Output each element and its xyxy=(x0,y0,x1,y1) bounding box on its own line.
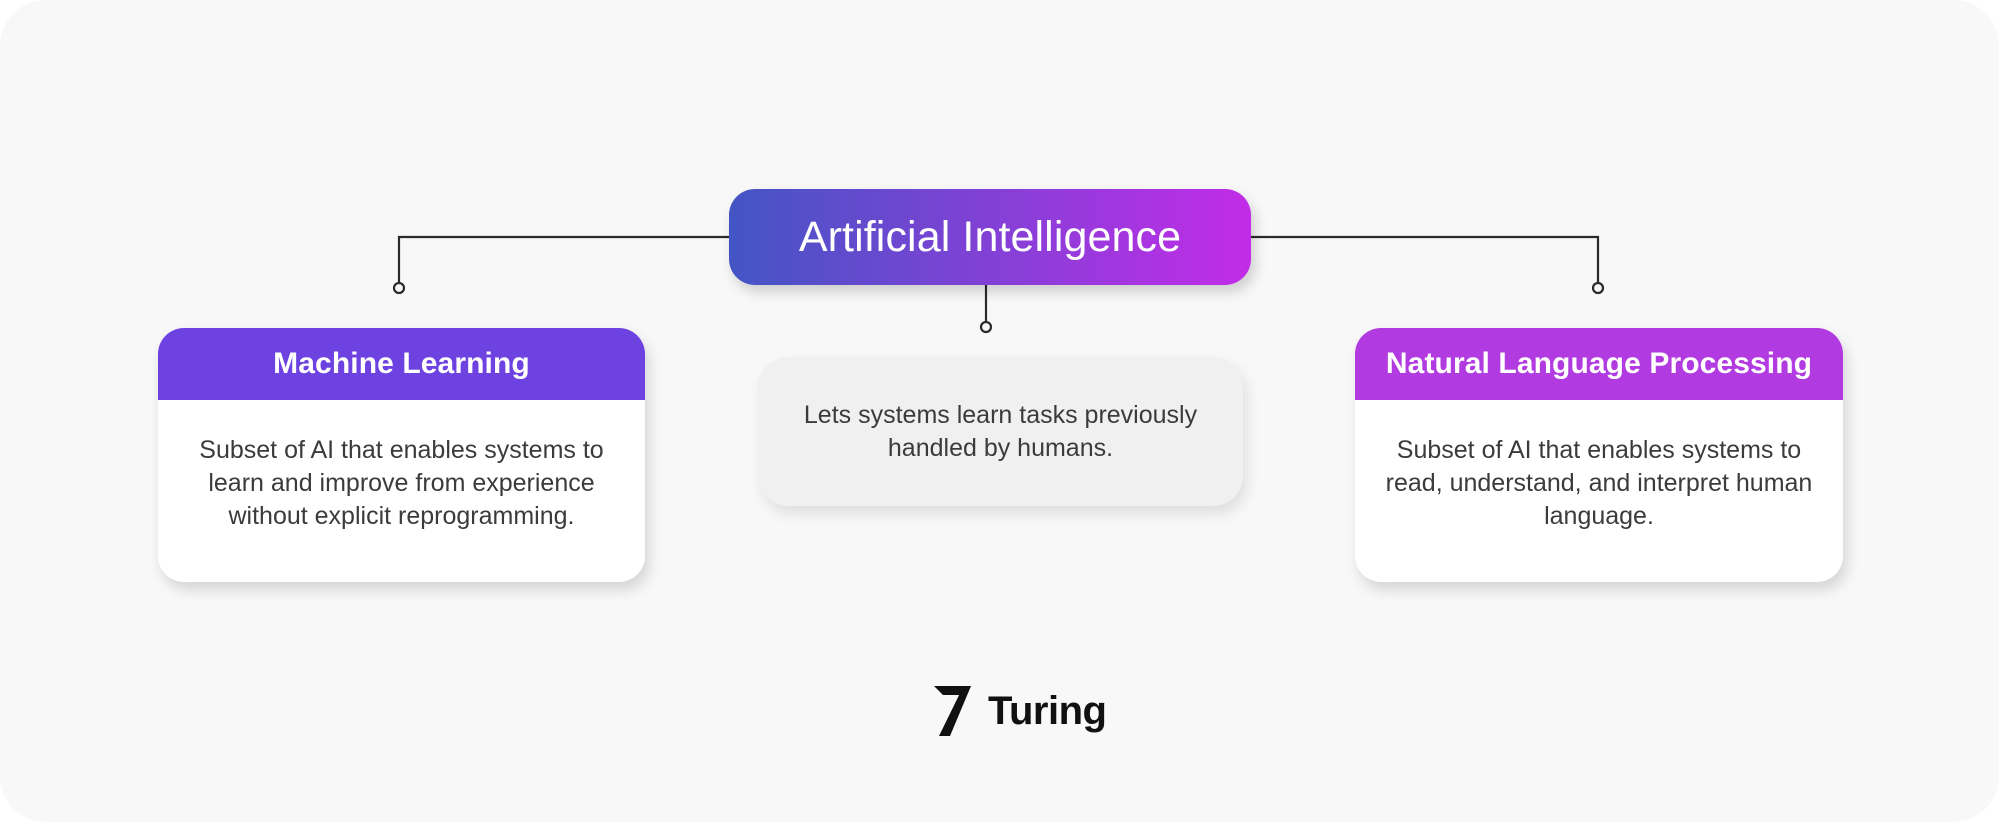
card-machine-learning-description: Subset of AI that enables systems to lea… xyxy=(184,434,619,533)
card-machine-learning-header: Machine Learning xyxy=(158,328,645,400)
card-machine-learning[interactable]: Machine Learning Subset of AI that enabl… xyxy=(158,328,645,582)
brand-wordmark: Turing xyxy=(988,691,1106,731)
card-natural-language-processing-body: Subset of AI that enables systems to rea… xyxy=(1355,400,1843,582)
root-node-artificial-intelligence[interactable]: Artificial Intelligence xyxy=(729,189,1251,285)
card-note-center[interactable]: Lets systems learn tasks previously hand… xyxy=(758,357,1243,506)
root-node-label: Artificial Intelligence xyxy=(799,216,1181,259)
brand-logo: Turing xyxy=(930,684,1106,738)
card-natural-language-processing-description: Subset of AI that enables systems to rea… xyxy=(1381,434,1817,533)
card-natural-language-processing-header: Natural Language Processing xyxy=(1355,328,1843,400)
card-natural-language-processing-title: Natural Language Processing xyxy=(1386,349,1812,379)
card-machine-learning-body: Subset of AI that enables systems to lea… xyxy=(158,400,645,582)
card-machine-learning-title: Machine Learning xyxy=(273,349,530,379)
card-note-text: Lets systems learn tasks previously hand… xyxy=(788,399,1213,465)
diagram-canvas: Artificial Intelligence Machine Learning… xyxy=(0,0,1999,822)
turing-seven-mark-icon xyxy=(930,684,974,738)
card-natural-language-processing[interactable]: Natural Language Processing Subset of AI… xyxy=(1355,328,1843,582)
